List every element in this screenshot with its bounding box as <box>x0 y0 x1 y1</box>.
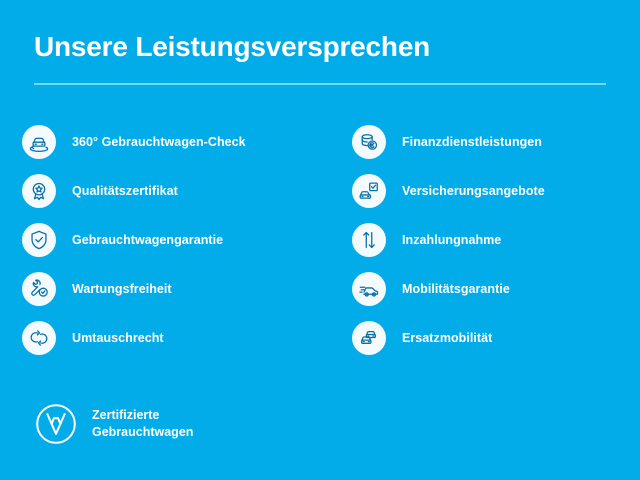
award-rosette-icon <box>22 174 56 208</box>
feature-label: Gebrauchtwagengarantie <box>72 232 223 248</box>
feature-label: Mobilitätsgarantie <box>402 281 510 297</box>
feature-item-mobilitaetsgarantie[interactable]: Mobilitätsgarantie <box>352 265 618 313</box>
feature-item-finanzdienstleistungen[interactable]: Finanzdienstleistungen <box>352 118 618 166</box>
page-title: Unsere Leistungsversprechen <box>34 30 606 64</box>
feature-label: Qualitätszertifikat <box>72 183 178 199</box>
feature-item-gebrauchtwagen-check[interactable]: 360° Gebrauchtwagen-Check <box>22 118 352 166</box>
brand-line-2: Gebrauchtwagen <box>92 424 193 441</box>
promise-panel: Unsere Leistungsversprechen 360° Gebrauc <box>0 0 640 480</box>
feature-item-inzahlungnahme[interactable]: Inzahlungnahme <box>352 216 618 264</box>
up-down-arrows-icon <box>352 223 386 257</box>
header: Unsere Leistungsversprechen <box>34 30 606 85</box>
feature-item-versicherungsangebote[interactable]: Versicherungsangebote <box>352 167 618 215</box>
title-divider <box>34 83 606 85</box>
wrench-check-icon <box>22 272 56 306</box>
feature-column-left: 360° Gebrauchtwagen-Check Qualitätszerti… <box>22 118 352 363</box>
brand-text: Zertifizierte Gebrauchtwagen <box>92 407 193 441</box>
feature-label: 360° Gebrauchtwagen-Check <box>72 134 246 150</box>
feature-item-qualitaetszertifikat[interactable]: Qualitätszertifikat <box>22 167 352 215</box>
volkswagen-logo <box>34 402 78 446</box>
shield-check-icon <box>22 223 56 257</box>
feature-item-wartungsfreiheit[interactable]: Wartungsfreiheit <box>22 265 352 313</box>
feature-label: Versicherungsangebote <box>402 183 545 199</box>
feature-label: Ersatzmobilität <box>402 330 492 346</box>
car-clipboard-icon <box>352 174 386 208</box>
feature-columns: 360° Gebrauchtwagen-Check Qualitätszerti… <box>22 118 618 363</box>
feature-label: Wartungsfreiheit <box>72 281 172 297</box>
feature-column-right: Finanzdienstleistungen Versicherungsange… <box>352 118 618 363</box>
brand-line-1: Zertifizierte <box>92 407 193 424</box>
two-cars-icon <box>352 321 386 355</box>
feature-item-umtauschrecht[interactable]: Umtauschrecht <box>22 314 352 362</box>
feature-item-gebrauchtwagengarantie[interactable]: Gebrauchtwagengarantie <box>22 216 352 264</box>
exchange-arrows-icon <box>22 321 56 355</box>
feature-item-ersatzmobilitaet[interactable]: Ersatzmobilität <box>352 314 618 362</box>
coins-euro-icon <box>352 125 386 159</box>
feature-label: Inzahlungnahme <box>402 232 501 248</box>
car-360-check-icon <box>22 125 56 159</box>
car-motion-icon <box>352 272 386 306</box>
feature-label: Finanzdienstleistungen <box>402 134 542 150</box>
brand-lockup: Zertifizierte Gebrauchtwagen <box>34 402 193 446</box>
feature-label: Umtauschrecht <box>72 330 164 346</box>
